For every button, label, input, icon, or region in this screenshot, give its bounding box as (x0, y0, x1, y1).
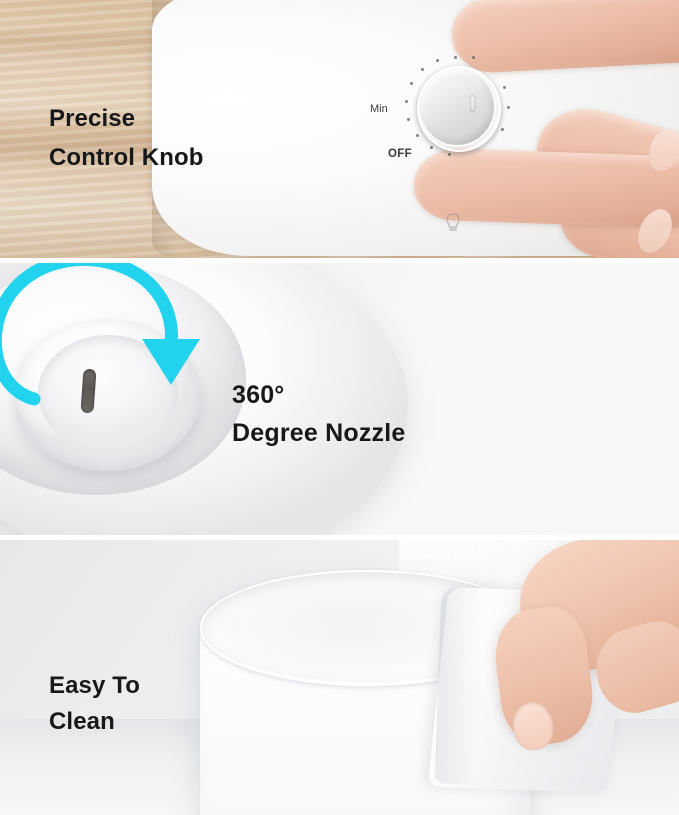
caption-line-1: Easy To (49, 672, 140, 700)
panel-easy-to-clean: Easy To Clean (0, 540, 679, 815)
feature-collage: Min OFF Precise Control Knob 360° Degree… (0, 0, 679, 815)
control-knob[interactable] (404, 56, 510, 164)
knob-bezel-ring (417, 66, 501, 152)
knob-label-off: OFF (388, 148, 412, 160)
caption-line-2: Clean (49, 708, 115, 736)
knob-label-min: Min (370, 103, 388, 115)
caption-line-1: 360° (232, 381, 285, 410)
panel-360-degree-nozzle: 360° Degree Nozzle (0, 263, 679, 535)
panel-precise-control-knob: Min OFF Precise Control Knob (0, 0, 679, 258)
light-bulb-icon (444, 212, 462, 236)
humidifier-top-lid (0, 263, 408, 535)
caption-line-1: Precise (49, 105, 135, 133)
rotation-arrow-icon (0, 263, 214, 437)
caption-line-2: Degree Nozzle (232, 419, 406, 448)
caption-line-2: Control Knob (49, 144, 204, 172)
